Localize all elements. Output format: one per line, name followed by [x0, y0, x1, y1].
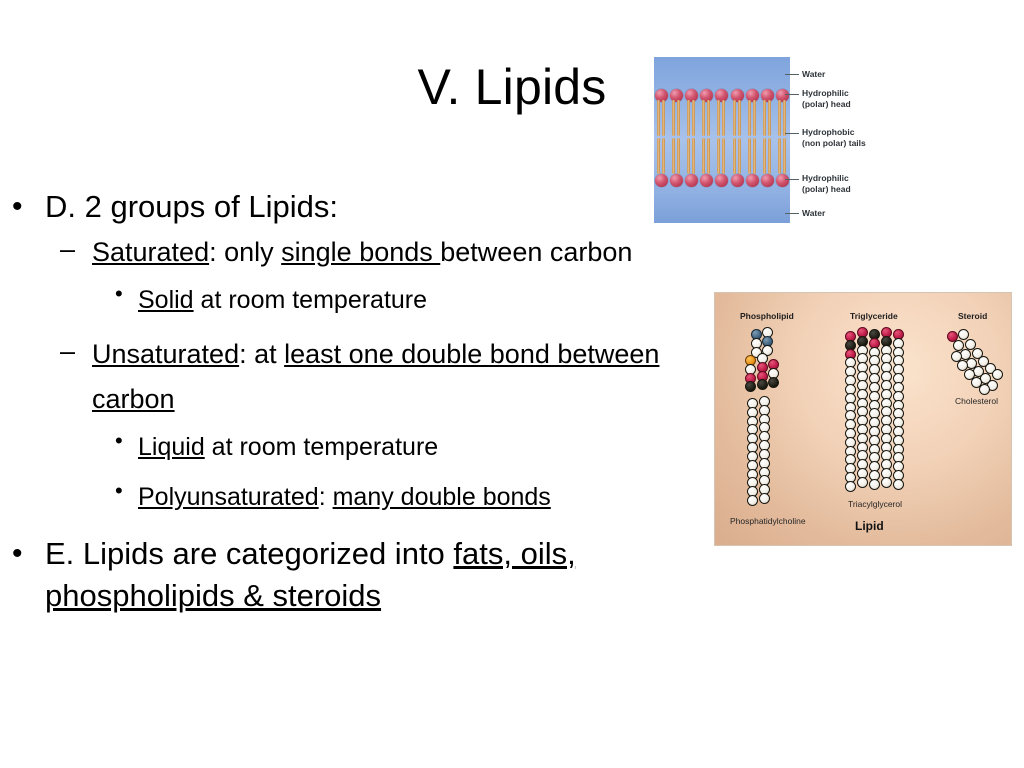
- underlined-text: single bonds: [281, 237, 440, 267]
- bullet-text: D. 2 groups of Lipids:: [45, 186, 730, 228]
- bullet-marker-icon: •: [115, 276, 123, 312]
- polar-head-icon: [731, 174, 744, 187]
- nonpolar-tail-icon: [732, 138, 743, 174]
- triglyceride-chain: [869, 329, 880, 488]
- nonpolar-tail-icon: [686, 100, 697, 136]
- triglyceride-chain: [881, 327, 892, 486]
- nonpolar-tail-icon: [656, 100, 667, 136]
- polar-head-icon: [715, 174, 728, 187]
- bullet-list: •D. 2 groups of Lipids:–Saturated: only …: [0, 186, 730, 619]
- nonpolar-tail-icon: [716, 100, 727, 136]
- bullet-item-level-3: •Polyunsaturated: many double bonds: [0, 473, 730, 522]
- plain-text: D. 2 groups of Lipids:: [45, 189, 338, 224]
- phospholipid-phosphate-chain: [757, 353, 768, 388]
- phospholipid-choline-chain: [762, 327, 773, 353]
- bullet-text: Unsaturated: at least one double bond be…: [92, 332, 730, 422]
- bullet-item-level-2: –Unsaturated: at least one double bond b…: [0, 332, 730, 422]
- bullet-marker-icon: –: [60, 332, 75, 370]
- bullet-item-level-1: •D. 2 groups of Lipids:: [0, 186, 730, 228]
- bullet-text: Liquid at room temperature: [138, 423, 730, 472]
- bullet-marker-icon: •: [12, 186, 23, 228]
- bullet-text: Solid at room temperature: [138, 276, 730, 325]
- underlined-text: Saturated: [92, 237, 209, 267]
- plain-text: at room temperature: [194, 286, 427, 314]
- molecule-sublabel-phosphatidylcholine: Phosphatidylcholine: [730, 516, 806, 526]
- bullet-marker-icon: •: [115, 423, 123, 459]
- nonpolar-tail-icon: [671, 100, 682, 136]
- plain-text: : only: [209, 237, 281, 267]
- polar-head-icon: [685, 174, 698, 187]
- plain-text: at room temperature: [205, 433, 438, 461]
- lipid-molecules-image: Phospholipid Triglyceride Steroid: [714, 292, 1012, 546]
- phospholipid-tail-chain: [759, 396, 770, 502]
- phospholipid-tail-chain: [747, 398, 758, 504]
- leader-line-tails: [785, 133, 799, 134]
- bullet-marker-icon: •: [115, 473, 123, 509]
- underlined-text: Solid: [138, 286, 194, 314]
- leader-line-water-top: [785, 74, 799, 75]
- nonpolar-tail-icon: [747, 138, 758, 174]
- nonpolar-tail-icon: [716, 138, 727, 174]
- bullet-item-level-3: •Solid at room temperature: [0, 276, 730, 325]
- bullet-text: E. Lipids are categorized into fats, oil…: [45, 533, 730, 617]
- polar-head-icon: [670, 174, 683, 187]
- upper-tail-row: [654, 100, 790, 136]
- underlined-text: Liquid: [138, 433, 205, 461]
- polar-head-icon: [655, 174, 668, 187]
- bullet-item-level-2: –Saturated: only single bonds between ca…: [0, 230, 730, 275]
- polar-head-icon: [700, 174, 713, 187]
- phospholipid-bilayer-image: Water Hydrophilic (polar) head Hydrophob…: [652, 55, 904, 227]
- label-hydrophobic-tails: Hydrophobic (non polar) tails: [802, 127, 866, 149]
- bullet-item-level-1: •E. Lipids are categorized into fats, oi…: [0, 533, 730, 617]
- bullet-marker-icon: –: [60, 230, 75, 268]
- nonpolar-tail-icon: [686, 138, 697, 174]
- molecule-sublabel-cholesterol: Cholesterol: [955, 396, 998, 406]
- triglyceride-chain: [893, 329, 904, 488]
- molecule-heading-phospholipid: Phospholipid: [740, 311, 794, 321]
- nonpolar-tail-icon: [762, 138, 773, 174]
- molecule-heading-steroid: Steroid: [958, 311, 987, 321]
- phospholipid-phosphate-chain: [745, 355, 756, 390]
- plain-text: : at: [239, 339, 284, 369]
- polar-head-icon: [776, 174, 789, 187]
- label-water-top: Water: [802, 69, 825, 80]
- nonpolar-tail-icon: [701, 100, 712, 136]
- underlined-text: many double bonds: [333, 483, 551, 511]
- leader-line-head-top: [785, 94, 799, 95]
- label-hydrophilic-head-bottom: Hydrophilic (polar) head: [802, 173, 851, 195]
- leader-line-water-bottom: [785, 213, 799, 214]
- bullet-marker-icon: •: [12, 533, 23, 575]
- plain-text: E. Lipids are categorized into: [45, 536, 453, 571]
- bullet-text: Polyunsaturated: many double bonds: [138, 473, 730, 522]
- nonpolar-tail-icon: [747, 100, 758, 136]
- plain-text: between carbon: [440, 237, 632, 267]
- nonpolar-tail-icon: [656, 138, 667, 174]
- triglyceride-chain: [845, 331, 856, 490]
- bullet-text: Saturated: only single bonds between car…: [92, 230, 730, 275]
- nonpolar-tail-icon: [732, 100, 743, 136]
- polar-head-icon: [761, 174, 774, 187]
- label-hydrophilic-head-top: Hydrophilic (polar) head: [802, 88, 851, 110]
- nonpolar-tail-icon: [777, 100, 788, 136]
- underlined-text: Polyunsaturated: [138, 483, 319, 511]
- polar-head-icon: [746, 174, 759, 187]
- phospholipid-choline-chain: [751, 329, 762, 355]
- lower-tail-row: [654, 138, 790, 174]
- nonpolar-tail-icon: [701, 138, 712, 174]
- lipid-figure-title: Lipid: [855, 519, 884, 533]
- molecule-heading-triglyceride: Triglyceride: [850, 311, 898, 321]
- leader-line-head-bottom: [785, 179, 799, 180]
- triglyceride-chain: [857, 327, 868, 486]
- nonpolar-tail-icon: [762, 100, 773, 136]
- lower-head-row: [654, 173, 790, 188]
- bullet-item-level-3: •Liquid at room temperature: [0, 423, 730, 472]
- underlined-text: Unsaturated: [92, 339, 239, 369]
- phospholipid-phosphate-chain: [768, 359, 779, 385]
- plain-text: :: [319, 483, 333, 511]
- molecule-sublabel-triacylglycerol: Triacylglycerol: [848, 499, 902, 509]
- nonpolar-tail-icon: [671, 138, 682, 174]
- label-water-bottom: Water: [802, 208, 825, 219]
- nonpolar-tail-icon: [777, 138, 788, 174]
